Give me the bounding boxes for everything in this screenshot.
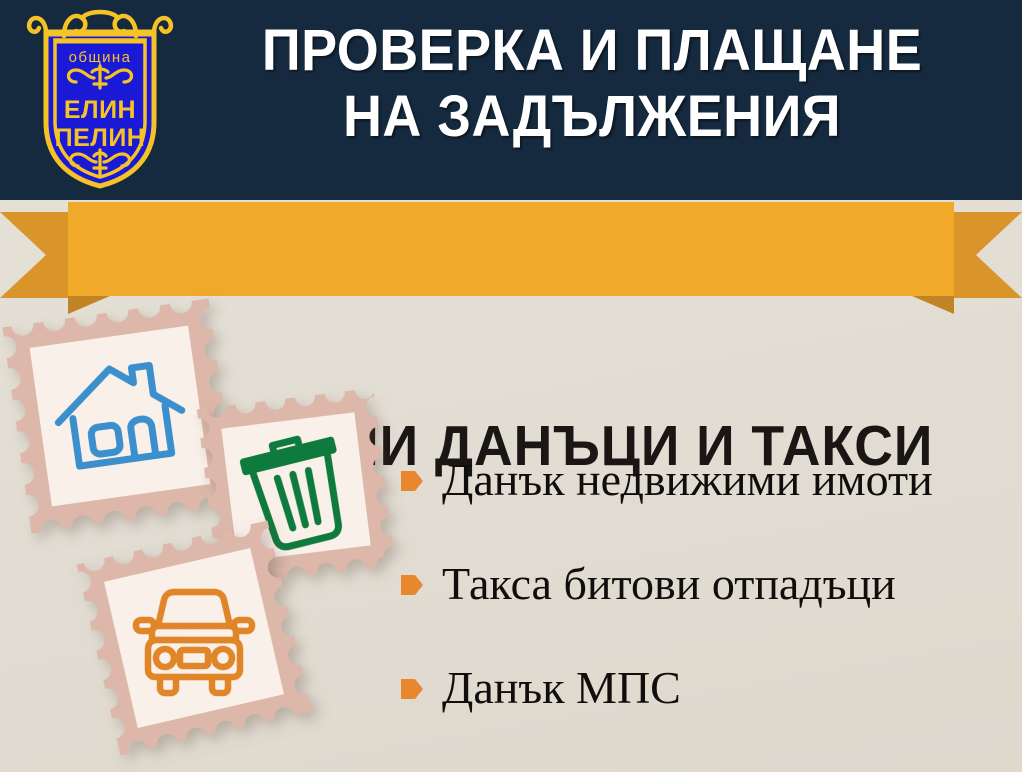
svg-text:община: община bbox=[69, 49, 132, 66]
ribbon-panel bbox=[68, 202, 954, 296]
pennant-bullet-icon bbox=[400, 468, 424, 494]
svg-text:ПЕЛИН: ПЕЛИН bbox=[55, 124, 146, 152]
list-item: Данък недвижими имоти bbox=[400, 428, 1010, 532]
list-item-label: Такса битови отпадъци bbox=[442, 559, 896, 609]
svg-text:ЕЛИН: ЕЛИН bbox=[64, 96, 136, 124]
crest-logo: община ЕЛИН ПЕЛИН bbox=[24, 6, 176, 192]
poster-title: ПРОВЕРКА И ПЛАЩАНЕ НА ЗАДЪЛЖЕНИЯ bbox=[186, 18, 998, 150]
list-item: Такса битови отпадъци bbox=[400, 532, 1010, 636]
header-bar: община ЕЛИН ПЕЛИН bbox=[0, 0, 1022, 200]
ribbon-right-fold bbox=[912, 296, 954, 314]
pennant-bullet-icon bbox=[400, 572, 424, 598]
ribbon-left-fold bbox=[68, 296, 110, 314]
pennant-bullet-icon bbox=[400, 676, 424, 702]
title-line-2: НА ЗАДЪЛЖЕНИЯ bbox=[214, 84, 969, 150]
subtitle-ribbon: НА МЕСТНИ ДАНЪЦИ И ТАКСИ bbox=[0, 196, 1022, 316]
title-line-1: ПРОВЕРКА И ПЛАЩАНЕ bbox=[214, 18, 969, 84]
tax-type-list: Данък недвижими имоти Такса битови отпад… bbox=[400, 428, 1010, 740]
poster-root: община ЕЛИН ПЕЛИН bbox=[0, 0, 1022, 772]
list-item: Данък МПС bbox=[400, 636, 1010, 740]
list-item-label: Данък МПС bbox=[442, 663, 681, 713]
list-item-label: Данък недвижими имоти bbox=[442, 455, 933, 505]
